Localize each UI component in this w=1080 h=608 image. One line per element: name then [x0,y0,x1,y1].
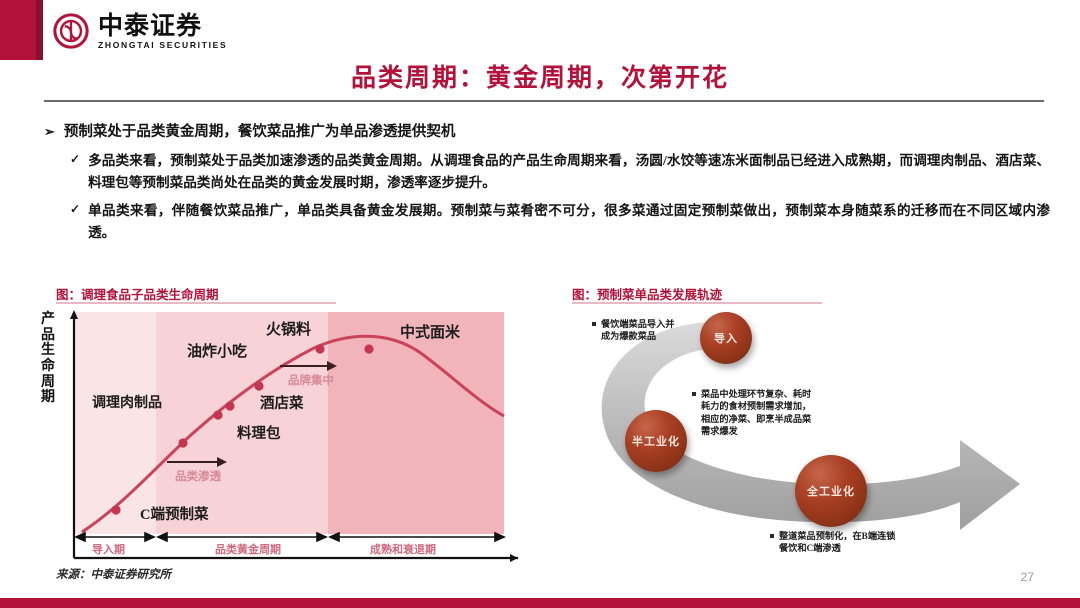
page-title: 品类周期：黄金周期，次第开花 [0,58,1080,94]
bullet-square-icon [770,534,774,538]
bullet-marker-level2: ✓ [70,150,80,194]
phase-label-mature: 成熟和衰退期 [370,541,436,557]
lifecycle-chart-svg [52,306,522,571]
bullet-level1: ➢ 预制菜处于品类黄金周期，餐饮菜品推广为单品渗透提供契机 [44,122,1050,144]
bullet-square-icon [592,322,596,326]
bullet-marker-level1: ➢ [44,122,55,144]
stage-sphere-semi-industrial: 半工业化 [625,410,687,472]
stage-label-semi-industrial: 半工业化 [632,433,680,449]
bullet-level2-2-text: 单品类来看，伴随餐饮菜品推广，单品类具备黄金发展期。预制菜与菜肴密不可分，很多菜… [88,200,1050,244]
title-divider [44,100,1044,102]
stage-note-full-industrial-text: 整道菜品预制化，在B端连锁餐饮和C端渗透 [779,530,902,555]
chart-label-zhongshimianmi: 中式面米 [400,321,460,342]
stage-label-introduction: 导入 [714,330,738,346]
chart-label-liaolibao: 料理包 [237,422,281,443]
stage-sphere-introduction: 导入 [700,312,752,364]
chart-label-c-duan: C端预制菜 [140,503,208,524]
chart-label-jiudiancai: 酒店菜 [260,392,304,413]
bullet-level2-1: ✓ 多品类来看，预制菜处于品类加速渗透的品类黄金周期。从调理食品的产品生命周期来… [44,150,1050,194]
stage-note-introduction-text: 餐饮端菜品导入并成为爆款菜品 [601,318,680,343]
bullet-level2-2: ✓ 单品类来看，伴随餐饮菜品推广，单品类具备黄金发展期。预制菜与菜肴密不可分，很… [44,200,1050,244]
stage-note-full-industrial: 整道菜品预制化，在B端连锁餐饮和C端渗透 [770,530,902,555]
source-note: 来源：中泰证券研究所 [56,566,171,582]
phase-label-golden: 品类黄金周期 [215,541,281,557]
brand-name-cn: 中泰证券 [98,13,227,38]
slide: 中泰证券 ZHONGTAI SECURITIES 品类周期：黄金周期，次第开花 … [0,0,1080,608]
bullet-level1-text: 预制菜处于品类黄金周期，餐饮菜品推广为单品渗透提供契机 [64,122,456,144]
bullet-level2-1-text: 多品类来看，预制菜处于品类加速渗透的品类黄金周期。从调理食品的产品生命周期来看，… [88,150,1050,194]
right-caption-underline [572,302,822,304]
phase-band-mature [328,312,504,534]
stage-sphere-full-industrial: 全工业化 [795,455,867,527]
page-number: 27 [1021,570,1034,584]
brand-logo: 中泰证券 ZHONGTAI SECURITIES [52,12,227,50]
product-lifecycle-chart [52,306,522,571]
stage-note-semi-industrial: 菜品中处理环节复杂、耗时耗力的食材预制需求增加，相应的净菜、即烹半成品菜需求爆发 [692,388,818,438]
left-chart-caption: 图：调理食品子品类生命周期 [56,284,219,303]
bullet-list: ➢ 预制菜处于品类黄金周期，餐饮菜品推广为单品渗透提供契机 ✓ 多品类来看，预制… [44,122,1050,244]
chart-label-tiaoli: 调理肉制品 [92,392,162,412]
chart-annotation-penetration: 品类渗透 [175,468,221,484]
circular-zt-logo-icon [52,12,90,50]
chart-label-huoguoliao: 火锅料 [266,318,311,339]
stage-note-introduction: 餐饮端菜品导入并成为爆款菜品 [592,318,680,343]
stage-label-full-industrial: 全工业化 [807,483,855,499]
brand-name-en: ZHONGTAI SECURITIES [98,41,227,50]
left-caption-underline [56,302,336,304]
phase-label-intro: 导入期 [92,541,125,557]
chart-annotation-brand-concentration: 品牌集中 [288,372,334,388]
corner-accent-block [0,0,36,60]
right-chart-caption: 图：预制菜单品类发展轨迹 [572,284,722,303]
stage-note-semi-industrial-text: 菜品中处理环节复杂、耗时耗力的食材预制需求增加，相应的净菜、即烹半成品菜需求爆发 [701,388,818,438]
phase-band-intro [74,312,156,534]
bullet-square-icon [692,392,696,396]
bullet-marker-level2: ✓ [70,200,80,244]
bottom-accent-bar [0,598,1080,608]
chart-label-youzha: 油炸小吃 [187,340,247,361]
